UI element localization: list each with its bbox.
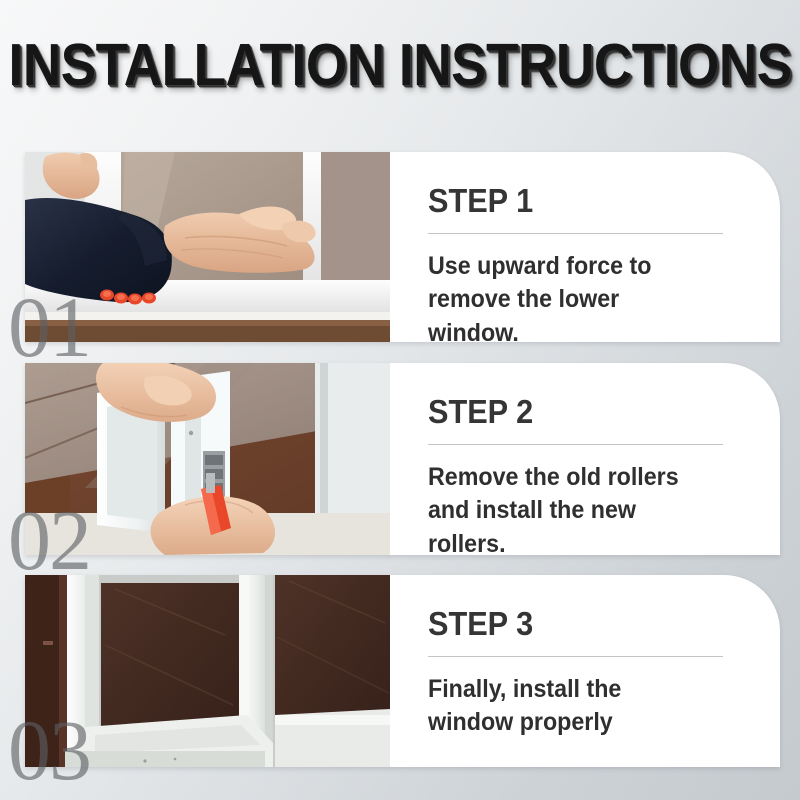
- photo-installed-window-icon: [25, 575, 390, 767]
- step-photo: [25, 575, 390, 767]
- step-photo: [25, 363, 390, 555]
- heading-divider: [428, 656, 723, 657]
- step-text-block: STEP 2 Remove the old rollers and instal…: [428, 363, 780, 555]
- step-row: STEP 2 Remove the old rollers and instal…: [0, 363, 800, 555]
- installation-instructions-poster: INSTALLATION INSTRUCTIONS: [0, 0, 800, 800]
- heading-divider: [428, 444, 723, 445]
- step-card: STEP 1 Use upward force to remove the lo…: [25, 152, 780, 342]
- step-heading: STEP 2: [428, 395, 700, 430]
- step-text-block: STEP 1 Use upward force to remove the lo…: [428, 152, 780, 342]
- page-title: INSTALLATION INSTRUCTIONS: [8, 31, 791, 99]
- step-text-block: STEP 3 Finally, install the window prope…: [428, 575, 780, 767]
- step-description: Finally, install the window properly: [428, 673, 700, 740]
- photo-rollers-screwdriver-icon: [25, 363, 390, 555]
- step-description: Use upward force to remove the lower win…: [428, 250, 700, 342]
- heading-divider: [428, 233, 723, 234]
- step-card: STEP 2 Remove the old rollers and instal…: [25, 363, 780, 555]
- step-row: STEP 3 Finally, install the window prope…: [0, 575, 800, 767]
- step-card: STEP 3 Finally, install the window prope…: [25, 575, 780, 767]
- title-container: INSTALLATION INSTRUCTIONS: [0, 26, 800, 104]
- step-photo: [25, 152, 390, 342]
- step-heading: STEP 3: [428, 607, 700, 642]
- photo-hands-pushing-window-icon: [25, 152, 390, 342]
- step-heading: STEP 1: [428, 184, 700, 219]
- step-row: STEP 1 Use upward force to remove the lo…: [0, 152, 800, 342]
- step-description: Remove the old rollers and install the n…: [428, 461, 700, 555]
